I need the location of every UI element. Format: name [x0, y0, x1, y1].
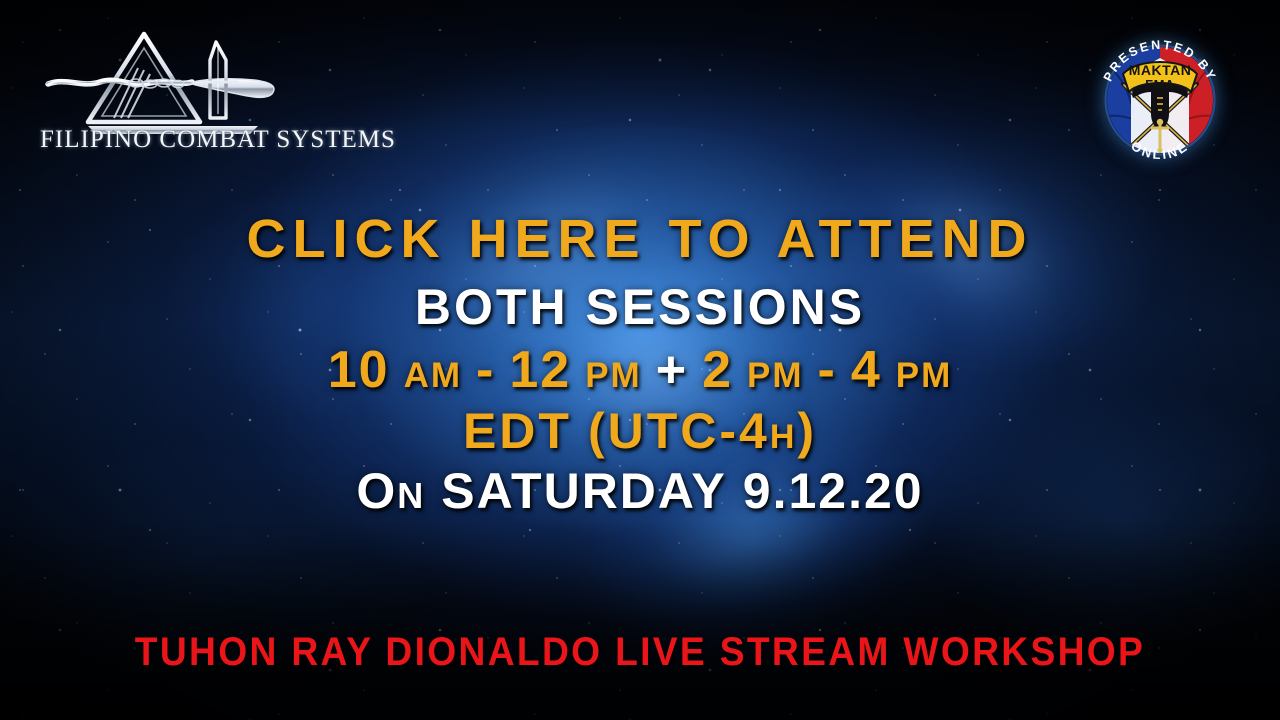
session2-end-unit: PM: [896, 356, 953, 395]
headline-block: CLICK HERE TO ATTEND BOTH SESSIONS 10AM-…: [0, 212, 1280, 516]
maktan-fma-online-crest-icon: MAKTAN FMA PRESENTED BY ONLINE: [1093, 18, 1227, 173]
timezone-offset-close: ): [797, 403, 817, 459]
date-prefix-n: N: [397, 475, 425, 516]
times-plus-separator: +: [656, 341, 688, 399]
date-prefix-o: O: [356, 463, 397, 519]
session1-end-unit: PM: [585, 356, 642, 395]
cta-attend-text[interactable]: CLICK HERE TO ATTEND: [0, 212, 1280, 266]
session2-end: 4: [851, 341, 882, 399]
badge-banner-fma: FMA: [1145, 77, 1175, 92]
date-value: 9.12.20: [743, 463, 924, 519]
both-sessions-text: BOTH SESSIONS: [0, 282, 1280, 332]
timezone-abbrev: EDT: [463, 403, 572, 459]
timezone-line: EDT(UTC-4H): [0, 406, 1280, 456]
session2-start-unit: PM: [747, 356, 804, 395]
badge-banner-maktan: MAKTAN: [1129, 62, 1192, 78]
times-dash-1: -: [476, 341, 495, 399]
session2-start: 2: [702, 341, 733, 399]
date-weekday: SATURDAY: [441, 463, 726, 519]
session-times-line: 10AM-12PM+2PM-4PM: [0, 344, 1280, 396]
workshop-title-footer: TUHON RAY DIONALDO LIVE STREAM WORKSHOP: [45, 630, 1235, 675]
timezone-offset-open: (UTC-4: [588, 403, 770, 459]
presented-by-badge[interactable]: MAKTAN FMA PRESENTED BY ONLINE: [1093, 18, 1227, 173]
poster-canvas: FILIPINO COMBAT SYSTEMS: [0, 0, 1280, 720]
fcs-logo[interactable]: FILIPINO COMBAT SYSTEMS: [40, 22, 305, 160]
date-line: ONSATURDAY9.12.20: [0, 466, 1280, 516]
fcs-logo-wordmark: FILIPINO COMBAT SYSTEMS: [40, 126, 305, 154]
session1-start: 10: [328, 341, 390, 399]
session1-start-unit: AM: [404, 356, 462, 395]
times-dash-2: -: [818, 341, 837, 399]
timezone-offset-unit: H: [770, 418, 798, 456]
session1-end: 12: [509, 341, 571, 399]
